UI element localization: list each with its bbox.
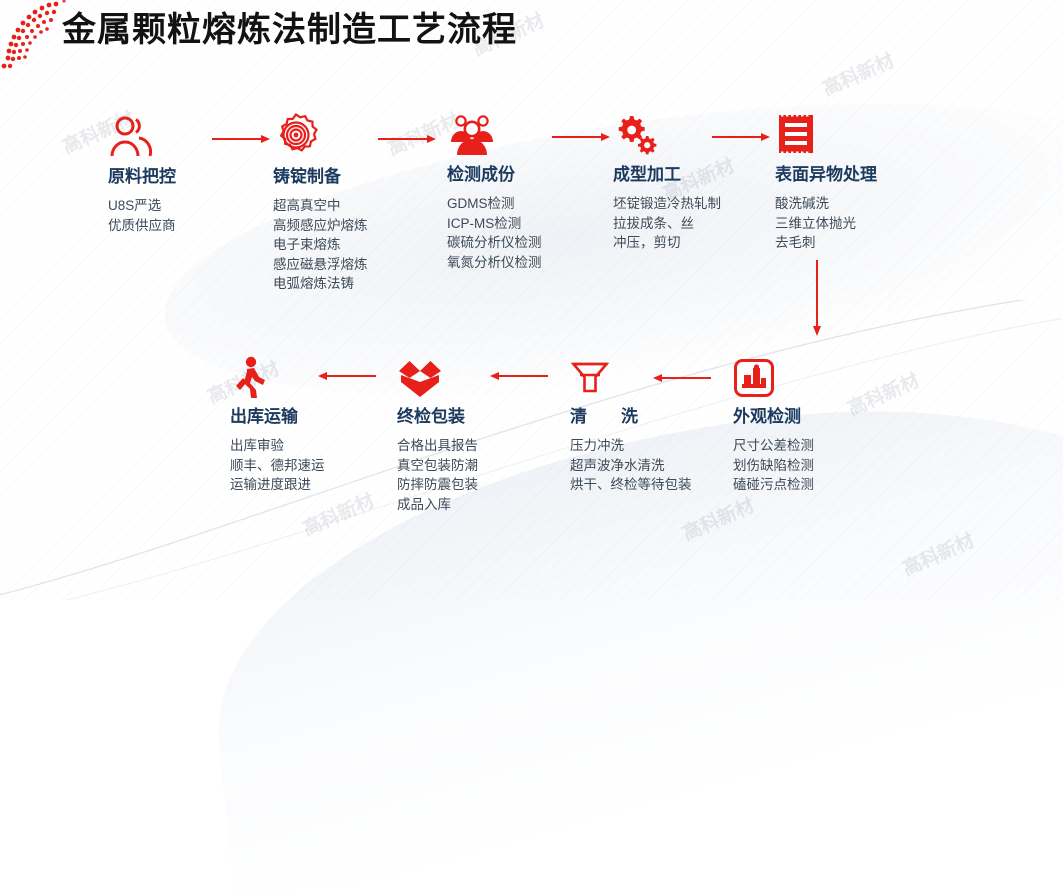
step-detail-list: 合格出具报告真空包装防潮防摔防震包装成品入库 (397, 436, 557, 514)
step-detail-line: 顺丰、德邦速运 (230, 456, 390, 476)
step-detail-line: 冲压，剪切 (613, 233, 778, 253)
watermark: 高科新材 (898, 526, 978, 582)
watermark: 高科新材 (678, 491, 758, 547)
step-detail-line: 电弧熔炼法铸 (273, 274, 433, 294)
step-title: 成型加工 (613, 164, 778, 186)
step-title: 检测成份 (447, 164, 607, 186)
step-title: 出库运输 (230, 406, 390, 428)
document-lines-icon (775, 110, 950, 156)
step-detail-line: U8S严选 (108, 196, 268, 216)
step-detail-line: 氧氮分析仪检测 (447, 253, 607, 273)
step-detail-line: 尺寸公差检测 (733, 436, 893, 456)
step-detail-line: 成品入库 (397, 495, 557, 515)
step-detail-list: 出库审验顺丰、德邦速运运输进度跟进 (230, 436, 390, 495)
step-detail-list: 压力冲洗超声波净水清洗烘干、终检等待包装 (570, 436, 700, 495)
step-title: 原料把控 (108, 166, 268, 188)
step-detail-line: 超声波净水清洗 (570, 456, 700, 476)
arrow-forming-to-surface (712, 131, 770, 143)
step-detail-line: 三维立体抛光 (775, 214, 950, 234)
step-detail-list: 超高真空中高频感应炉熔炼电子束熔炼感应磁悬浮熔炼电弧熔炼法铸 (273, 196, 433, 294)
process-step-raw-material-control[interactable]: 原料把控U8S严选优质供应商 (108, 112, 268, 235)
measure-device-icon (733, 352, 893, 398)
step-detail-line: 压力冲洗 (570, 436, 700, 456)
step-detail-line: ICP-MS检测 (447, 214, 607, 234)
step-detail-list: GDMS检测ICP-MS检测碳硫分析仪检测氧氮分析仪检测 (447, 194, 607, 272)
step-detail-line: 运输进度跟进 (230, 475, 390, 495)
step-detail-line: 合格出具报告 (397, 436, 557, 456)
step-detail-line: 去毛刺 (775, 233, 950, 253)
arrow-composition-to-forming (552, 131, 610, 143)
step-detail-line: 高频感应炉熔炼 (273, 216, 433, 236)
step-detail-line: GDMS检测 (447, 194, 607, 214)
step-title: 外观检测 (733, 406, 893, 428)
step-detail-line: 坯锭锻造冷热轧制 (613, 194, 778, 214)
step-detail-list: 酸洗碱洗三维立体抛光去毛刺 (775, 194, 950, 253)
step-detail-line: 酸洗碱洗 (775, 194, 950, 214)
step-detail-line: 拉拔成条、丝 (613, 214, 778, 234)
step-detail-line: 优质供应商 (108, 216, 268, 236)
step-detail-line: 烘干、终检等待包装 (570, 475, 700, 495)
page-header: 金属颗粒熔炼法制造工艺流程 (0, 0, 1063, 80)
step-detail-line: 划伤缺陷检测 (733, 456, 893, 476)
step-detail-line: 碳硫分析仪检测 (447, 233, 607, 253)
step-detail-line: 真空包装防潮 (397, 456, 557, 476)
step-detail-line: 超高真空中 (273, 196, 433, 216)
arrow-cleaning-to-packaging (490, 370, 548, 382)
page-title: 金属颗粒熔炼法制造工艺流程 (62, 6, 517, 56)
step-detail-line: 电子束熔炼 (273, 235, 433, 255)
step-title: 铸锭制备 (273, 166, 433, 188)
arrow-surface-to-appearance (811, 260, 823, 336)
arrow-ingot-to-composition (378, 133, 436, 145)
step-title: 表面异物处理 (775, 164, 950, 186)
step-detail-list: 尺寸公差检测划伤缺陷检测磕碰污点检测 (733, 436, 893, 495)
arrow-appearance-to-cleaning (653, 372, 711, 384)
step-title: 终检包装 (397, 406, 557, 428)
step-detail-line: 防摔防震包装 (397, 475, 557, 495)
step-detail-list: 坯锭锻造冷热轧制拉拔成条、丝冲压，剪切 (613, 194, 778, 253)
process-step-appearance-inspection[interactable]: 外观检测尺寸公差检测划伤缺陷检测磕碰污点检测 (733, 352, 893, 495)
arrow-packaging-to-shipping (318, 370, 376, 382)
process-step-surface-treatment[interactable]: 表面异物处理酸洗碱洗三维立体抛光去毛刺 (775, 110, 950, 253)
step-detail-line: 出库审验 (230, 436, 390, 456)
step-detail-list: U8S严选优质供应商 (108, 196, 268, 235)
step-title: 清 洗 (570, 406, 700, 428)
arrow-raw-to-ingot (212, 133, 270, 145)
step-detail-line: 磕碰污点检测 (733, 475, 893, 495)
step-detail-line: 感应磁悬浮熔炼 (273, 255, 433, 275)
